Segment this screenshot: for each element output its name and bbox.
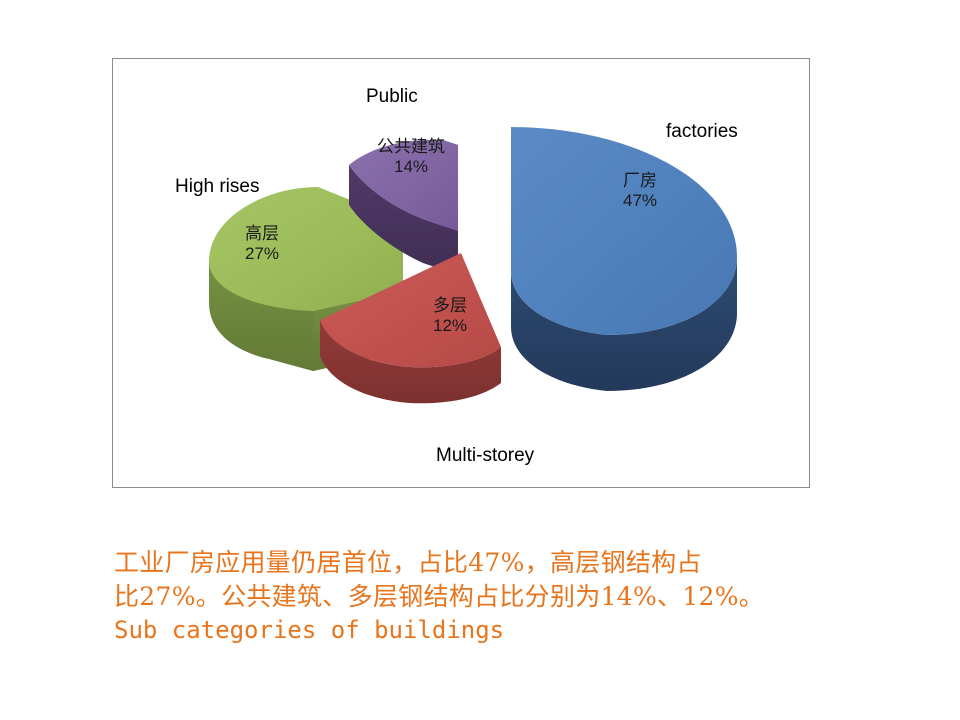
category-label-high-rises: High rises [175,177,259,196]
caption-line-3: Sub categories of buildings [114,614,904,646]
pie-slice-factories-top [511,127,737,335]
caption-line-1: 工业厂房应用量仍居首位，占比47%，高层钢结构占 [114,546,904,580]
category-label-factories: factories [666,122,738,141]
category-label-multi-storey: Multi-storey [436,446,534,465]
category-label-public: Public [366,87,418,106]
caption-line-2: 比27%。公共建筑、多层钢结构占比分别为14%、12%。 [114,580,904,614]
caption-block: 工业厂房应用量仍居首位，占比47%，高层钢结构占 比27%。公共建筑、多层钢结构… [114,546,904,646]
pie-chart-frame: Public factories High rises Multi-storey… [112,58,810,488]
pie-slice-factories[interactable] [511,127,737,391]
